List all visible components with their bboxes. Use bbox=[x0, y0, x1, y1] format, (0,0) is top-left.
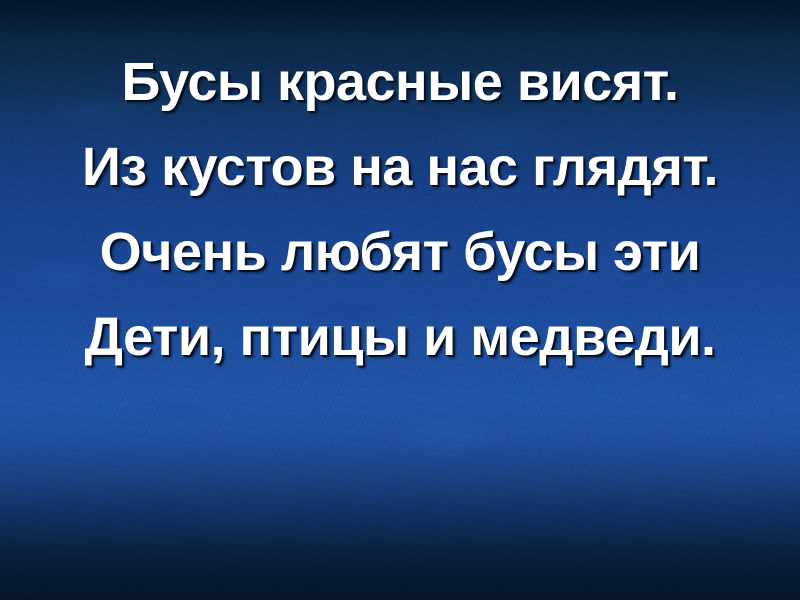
presentation-slide: Бусы красные висят. Из кустов на нас гля… bbox=[0, 0, 800, 600]
poem-line-3: Очень любят бусы эти bbox=[0, 210, 800, 295]
poem-line-4: Дети, птицы и медведи. bbox=[0, 295, 800, 380]
poem-line-1: Бусы красные висят. bbox=[0, 40, 800, 125]
poem-text-block: Бусы красные висят. Из кустов на нас гля… bbox=[0, 40, 800, 380]
poem-line-2: Из кустов на нас глядят. bbox=[0, 125, 800, 210]
